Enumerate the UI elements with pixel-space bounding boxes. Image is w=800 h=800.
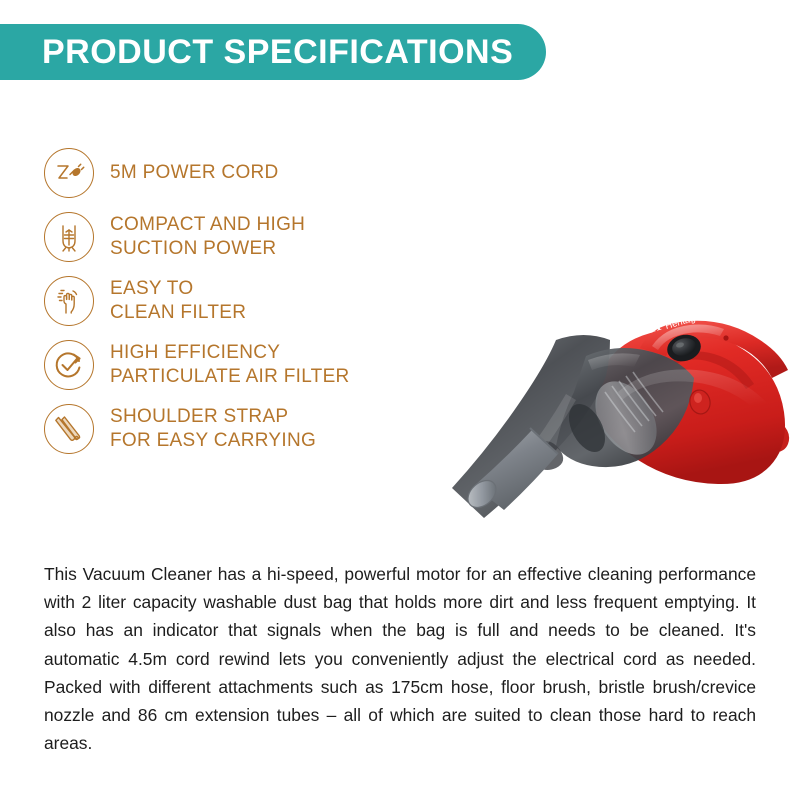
product-image-handheld-vacuum: ah American Heritage: [300, 160, 800, 520]
suction-motor-icon: [44, 212, 94, 262]
shoulder-strap-icon: [44, 404, 94, 454]
power-plug-icon: [44, 148, 94, 198]
feature-label: EASY TO CLEAN FILTER: [110, 277, 246, 325]
header-banner: PRODUCT SPECIFICATIONS: [0, 24, 546, 80]
vacuum-button-highlight: [694, 393, 702, 403]
feature-label: SHOULDER STRAP FOR EASY CARRYING: [110, 405, 316, 453]
vacuum-screw-dot: [723, 335, 728, 340]
feature-label: COMPACT AND HIGH SUCTION POWER: [110, 213, 305, 261]
feature-label: 5M POWER CORD: [110, 161, 279, 185]
product-description: This Vacuum Cleaner has a hi-speed, powe…: [44, 560, 756, 757]
page-title: PRODUCT SPECIFICATIONS: [0, 35, 513, 69]
cleaning-hand-icon: [44, 276, 94, 326]
efficiency-check-icon: [44, 340, 94, 390]
